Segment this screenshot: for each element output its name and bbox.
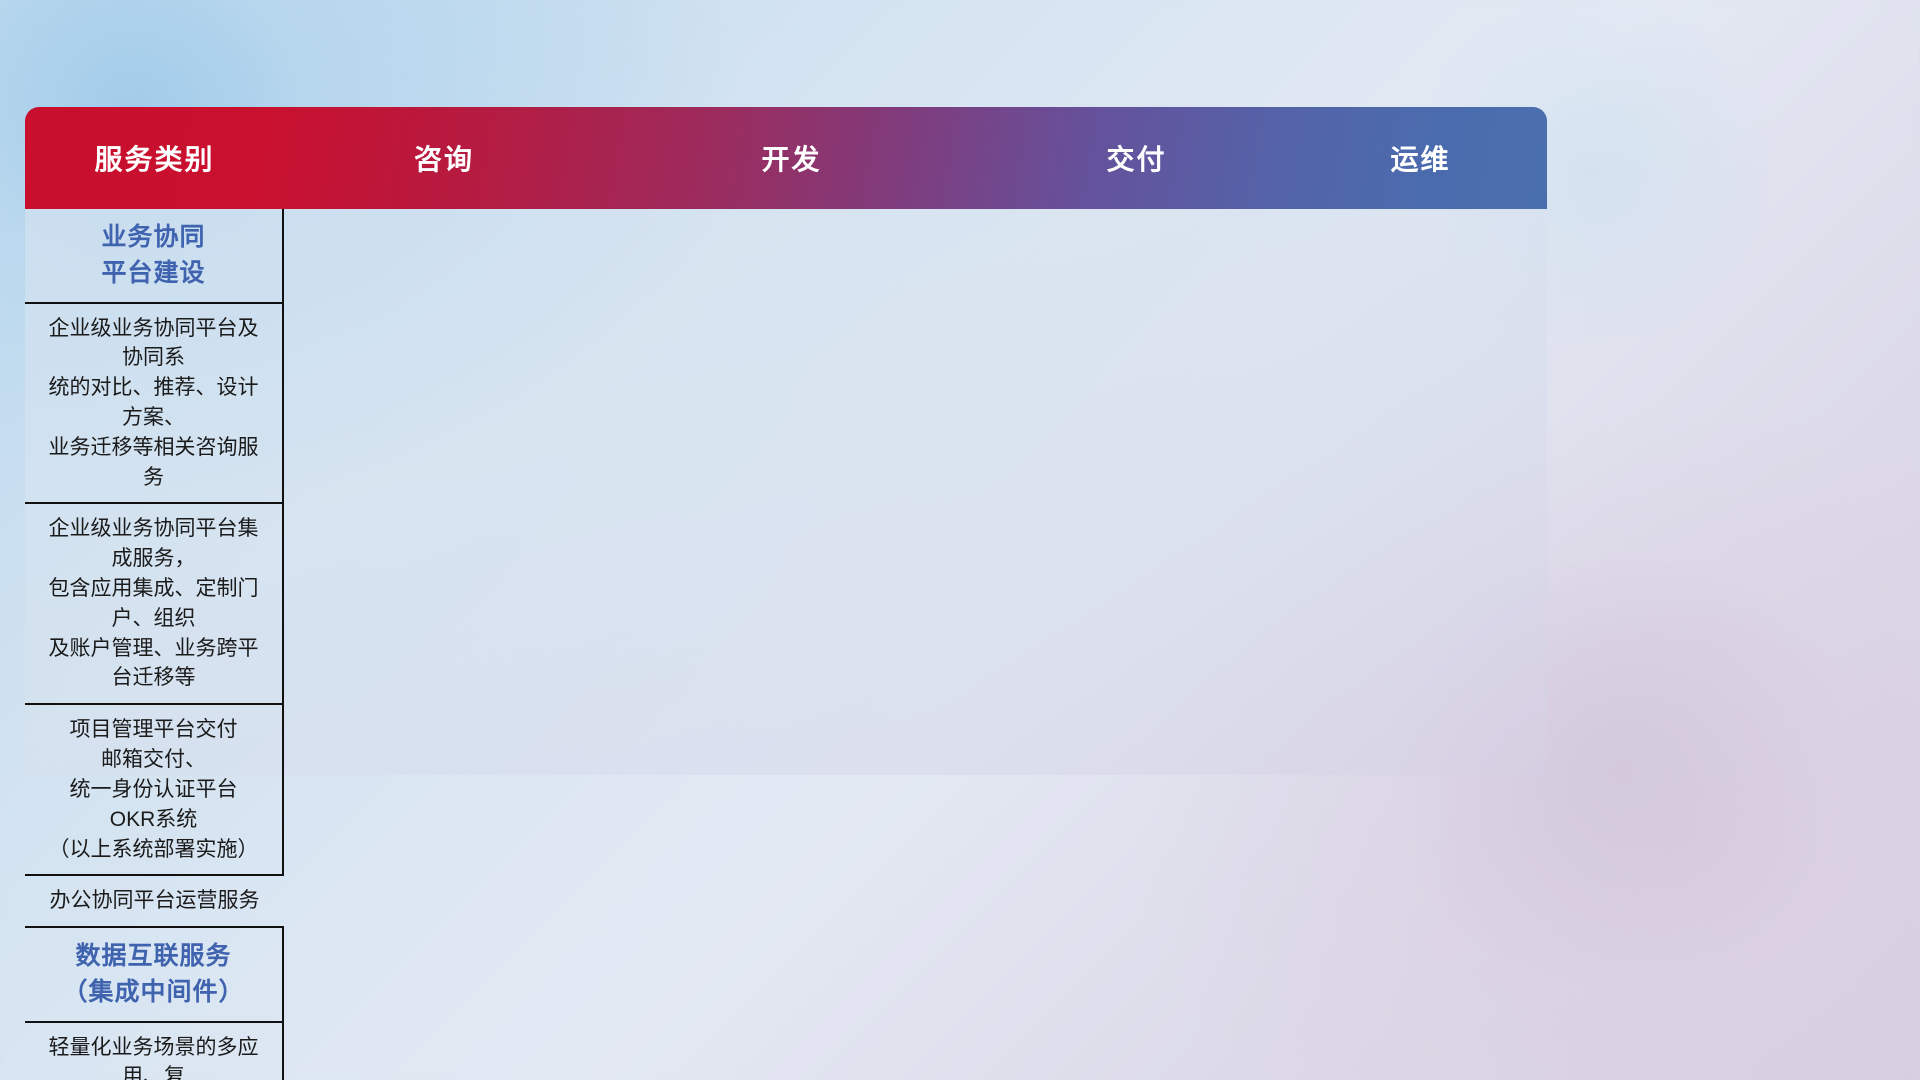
row-category-label: 数据互联服务 （集成中间件） bbox=[25, 928, 284, 1023]
column-header-development: 开发 bbox=[604, 107, 979, 209]
column-header-operations: 运维 bbox=[1294, 107, 1547, 209]
row-category-label: 业务协同 平台建设 bbox=[25, 209, 284, 304]
column-header-consulting: 咨询 bbox=[284, 107, 604, 209]
column-header-delivery: 交付 bbox=[979, 107, 1294, 209]
cell-development: 企业级业务协同平台集成服务， 包含应用集成、定制门户、组织 及账户管理、业务跨平… bbox=[25, 504, 284, 705]
table-header-row: 服务类别 咨询 开发 交付 运维 bbox=[25, 107, 1547, 209]
service-matrix-table: 服务类别 咨询 开发 交付 运维 业务协同 平台建设 企业级业务协同平台及协同系… bbox=[25, 107, 1547, 775]
cell-operations: 办公协同平台运营服务 bbox=[25, 876, 284, 928]
table-row: 数据互联服务 （集成中间件） 轻量化业务场景的多应用、复 杂业务流程建设咨询 业… bbox=[25, 928, 1547, 1080]
cell-consulting: 企业级业务协同平台及协同系 统的对比、推荐、设计方案、 业务迁移等相关咨询服务 bbox=[25, 304, 284, 505]
cell-consulting: 轻量化业务场景的多应用、复 杂业务流程建设咨询 bbox=[25, 1023, 284, 1080]
column-header-service-category: 服务类别 bbox=[25, 107, 284, 209]
page-root: 服务类别 咨询 开发 交付 运维 业务协同 平台建设 企业级业务协同平台及协同系… bbox=[0, 0, 1920, 1080]
cell-delivery: 项目管理平台交付 邮箱交付、 统一身份认证平台 OKR系统 （以上系统部署实施） bbox=[25, 705, 284, 876]
